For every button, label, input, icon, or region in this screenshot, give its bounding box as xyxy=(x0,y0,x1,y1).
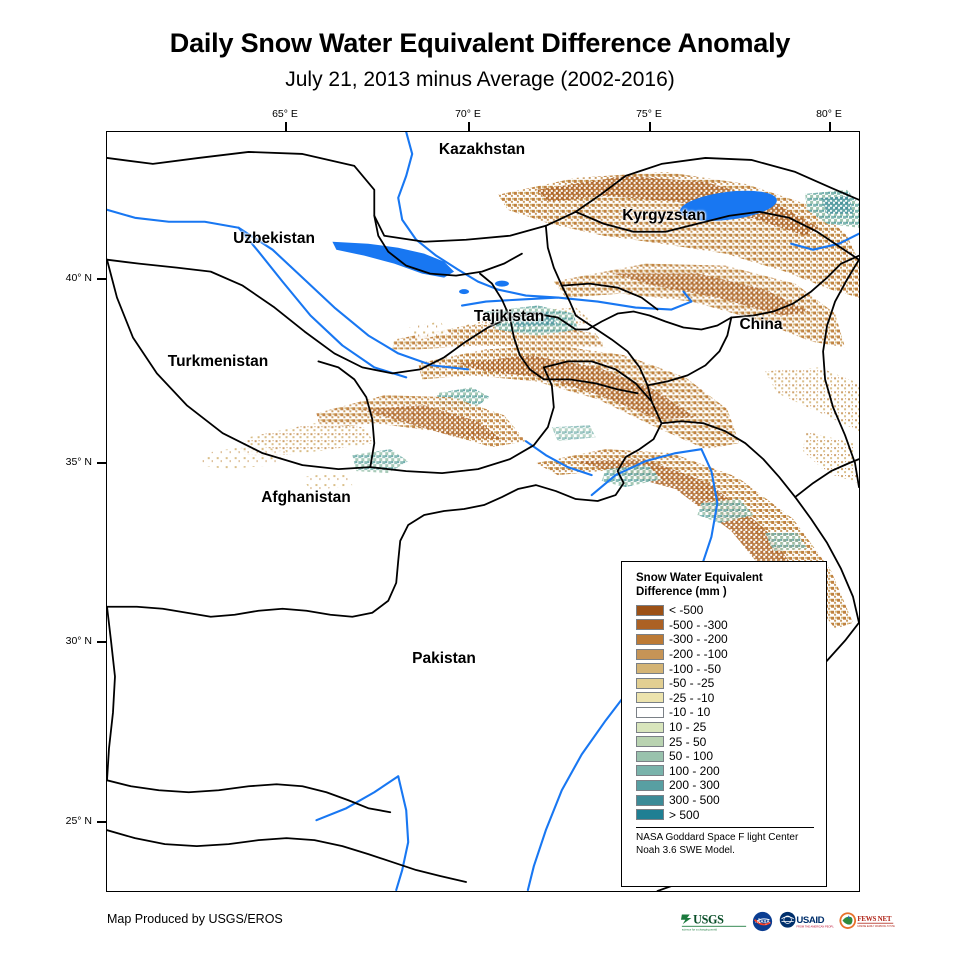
map-legend: Snow Water Equivalent Difference (mm ) <… xyxy=(621,561,827,887)
legend-swatch xyxy=(636,780,664,791)
legend-swatch xyxy=(636,649,664,660)
nasa-logo: NASA xyxy=(752,911,773,932)
legend-item: < -500 xyxy=(636,603,826,618)
lon-label: 70° E xyxy=(455,108,481,120)
legend-item: -50 - -25 xyxy=(636,676,826,691)
legend-swatch xyxy=(636,751,664,762)
legend-divider xyxy=(636,827,814,828)
legend-item: -25 - -10 xyxy=(636,691,826,706)
legend-label: 25 - 50 xyxy=(669,736,706,748)
legend-item: 50 - 100 xyxy=(636,749,826,764)
lon-tick xyxy=(285,122,287,131)
legend-label: 200 - 300 xyxy=(669,779,720,791)
svg-text:USGS: USGS xyxy=(693,912,724,926)
lat-label: 25° N xyxy=(66,815,92,827)
legend-swatch xyxy=(636,795,664,806)
svg-text:FEWS NET: FEWS NET xyxy=(857,915,891,923)
logo-bar: USGS science for a changing world NASA U… xyxy=(681,909,895,933)
legend-title-line1: Snow Water Equivalent xyxy=(636,572,763,584)
legend-label: < -500 xyxy=(669,604,703,616)
legend-swatch xyxy=(636,634,664,645)
legend-swatch xyxy=(636,663,664,674)
legend-item: 300 - 500 xyxy=(636,793,826,808)
svg-text:USAID: USAID xyxy=(796,914,824,925)
legend-item: 200 - 300 xyxy=(636,778,826,793)
legend-swatch xyxy=(636,605,664,616)
legend-label: -25 - -10 xyxy=(669,692,714,704)
legend-item: -10 - 10 xyxy=(636,705,826,720)
legend-swatch xyxy=(636,678,664,689)
lon-tick xyxy=(829,122,831,131)
legend-label: 50 - 100 xyxy=(669,750,713,762)
legend-item: -500 - -300 xyxy=(636,618,826,633)
legend-label: 300 - 500 xyxy=(669,794,720,806)
legend-swatch xyxy=(636,722,664,733)
legend-label: -500 - -300 xyxy=(669,619,728,631)
legend-swatch xyxy=(636,809,664,820)
legend-label: -300 - -200 xyxy=(669,633,728,645)
lon-label: 80° E xyxy=(816,108,842,120)
lat-tick xyxy=(97,641,106,643)
legend-swatch xyxy=(636,619,664,630)
legend-item: > 500 xyxy=(636,807,826,822)
lat-label: 40° N xyxy=(66,272,92,284)
svg-text:science for a changing world: science for a changing world xyxy=(682,927,718,931)
legend-swatch xyxy=(636,765,664,776)
svg-text:NASA: NASA xyxy=(757,918,770,923)
legend-label: 100 - 200 xyxy=(669,765,720,777)
svg-text:FROM THE AMERICAN PEOPLE: FROM THE AMERICAN PEOPLE xyxy=(796,924,834,928)
legend-label: -200 - -100 xyxy=(669,648,728,660)
lat-tick xyxy=(97,821,106,823)
lat-label: 35° N xyxy=(66,456,92,468)
legend-label: -10 - 10 xyxy=(669,706,710,718)
lon-label: 65° E xyxy=(272,108,298,120)
legend-item: 25 - 50 xyxy=(636,734,826,749)
lat-label: 30° N xyxy=(66,635,92,647)
lon-tick xyxy=(468,122,470,131)
legend-source-line2: Noah 3.6 SWE Model. xyxy=(636,845,735,856)
map-page: Daily Snow Water Equivalent Difference A… xyxy=(0,0,960,960)
page-subtitle: July 21, 2013 minus Average (2002-2016) xyxy=(0,68,960,92)
lon-label: 75° E xyxy=(636,108,662,120)
legend-label: > 500 xyxy=(669,809,699,821)
usaid-logo: USAID FROM THE AMERICAN PEOPLE xyxy=(778,911,834,932)
usgs-logo: USGS science for a changing world xyxy=(681,911,747,932)
legend-label: -100 - -50 xyxy=(669,663,721,675)
legend-label: 10 - 25 xyxy=(669,721,706,733)
legend-item: 100 - 200 xyxy=(636,764,826,779)
legend-title: Snow Water Equivalent Difference (mm ) xyxy=(636,571,821,599)
legend-source-line1: NASA Goddard Space F light Center xyxy=(636,832,798,843)
svg-text:FAMINE EARLY WARNING SYSTEMS N: FAMINE EARLY WARNING SYSTEMS NETWORK xyxy=(857,925,895,928)
lat-tick xyxy=(97,462,106,464)
legend-item: -300 - -200 xyxy=(636,632,826,647)
legend-swatch xyxy=(636,707,664,718)
lon-tick xyxy=(649,122,651,131)
fewsnet-logo: FEWS NET FAMINE EARLY WARNING SYSTEMS NE… xyxy=(839,911,895,932)
lat-tick xyxy=(97,278,106,280)
legend-item: -100 - -50 xyxy=(636,661,826,676)
legend-item: -200 - -100 xyxy=(636,647,826,662)
legend-item: 10 - 25 xyxy=(636,720,826,735)
page-title: Daily Snow Water Equivalent Difference A… xyxy=(0,28,960,59)
footer-credit: Map Produced by USGS/EROS xyxy=(107,912,283,926)
legend-class-list: < -500 -500 - -300 -300 - -200 -200 - -1… xyxy=(636,603,826,822)
legend-swatch xyxy=(636,692,664,703)
legend-source: NASA Goddard Space F light Center Noah 3… xyxy=(636,832,822,857)
legend-swatch xyxy=(636,736,664,747)
legend-title-line2: Difference (mm ) xyxy=(636,586,727,598)
legend-label: -50 - -25 xyxy=(669,677,714,689)
